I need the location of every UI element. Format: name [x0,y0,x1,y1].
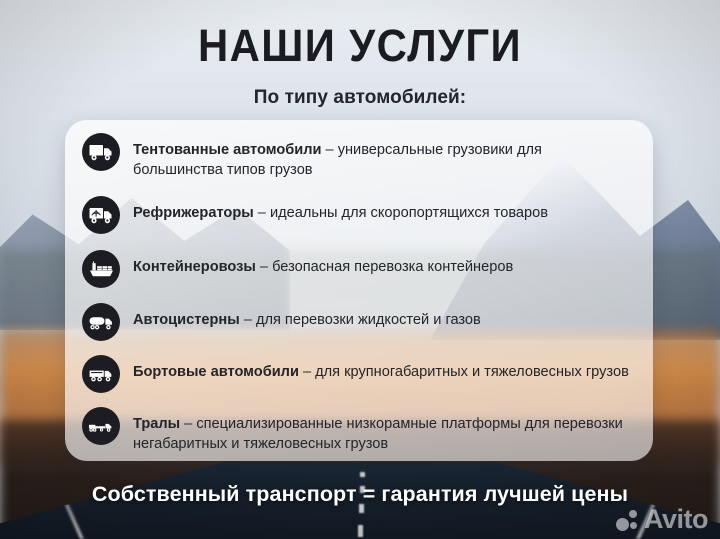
service-label: Автоцистерны [133,312,240,328]
service-dash: – [180,416,196,432]
service-dash: – [240,312,256,328]
service-description: безопасная перевозка контейнеров [272,259,513,275]
service-row-tented-trucks: Тентованные автомобили – универсальные г… [82,133,635,180]
service-description: для крупногабаритных и тяжеловесных груз… [315,364,629,380]
service-text: Бортовые автомобили – для крупногабаритн… [133,355,629,382]
service-description: специализированные низкорамные платформы… [133,416,623,452]
box-truck-icon [82,133,120,171]
service-row-flatbed-trucks: Бортовые автомобили – для крупногабаритн… [82,355,635,393]
lowboy-trailer-icon [82,407,120,445]
refrigerated-truck-icon [82,196,120,234]
tanker-truck-icon [82,303,120,341]
service-dash: – [321,142,337,158]
avito-watermark: Avito [616,506,708,533]
page-title: НАШИ УСЛУГИ [25,22,695,70]
service-text: Автоцистерны – для перевозки жидкостей и… [133,303,481,330]
service-dash: – [254,205,270,221]
service-description: для перевозки жидкостей и газов [256,312,481,328]
container-ship-icon [82,250,120,288]
service-label: Контейнеровозы [133,259,256,275]
service-text: Рефрижераторы – идеальны для скоропортящ… [133,196,548,223]
avito-dots-icon [616,507,642,533]
flatbed-truck-icon [82,355,120,393]
service-label: Рефрижераторы [133,205,254,221]
service-label: Тралы [133,416,180,432]
service-row-container-carriers: Контейнеровозы – безопасная перевозка ко… [82,250,635,288]
services-card: Тентованные автомобили – универсальные г… [65,120,653,461]
service-text: Тентованные автомобили – универсальные г… [133,133,635,180]
service-row-refrigerators: Рефрижераторы – идеальны для скоропортящ… [82,196,635,234]
service-text: Контейнеровозы – безопасная перевозка ко… [133,250,513,277]
service-label: Тентованные автомобили [133,142,321,158]
service-dash: – [299,364,315,380]
avito-wordmark: Avito [644,506,708,533]
footer-slogan: Собственный транспорт = гарантия лучшей … [0,481,720,507]
service-row-lowboy-trailers: Тралы – специализированные низкорамные п… [82,407,635,454]
service-dash: – [256,259,272,275]
service-description: идеальны для скоропортящихся товаров [270,205,548,221]
service-label: Бортовые автомобили [133,364,299,380]
page-subtitle: По типу автомобилей: [0,86,720,110]
service-text: Тралы – специализированные низкорамные п… [133,407,635,454]
service-row-tankers: Автоцистерны – для перевозки жидкостей и… [82,303,635,341]
